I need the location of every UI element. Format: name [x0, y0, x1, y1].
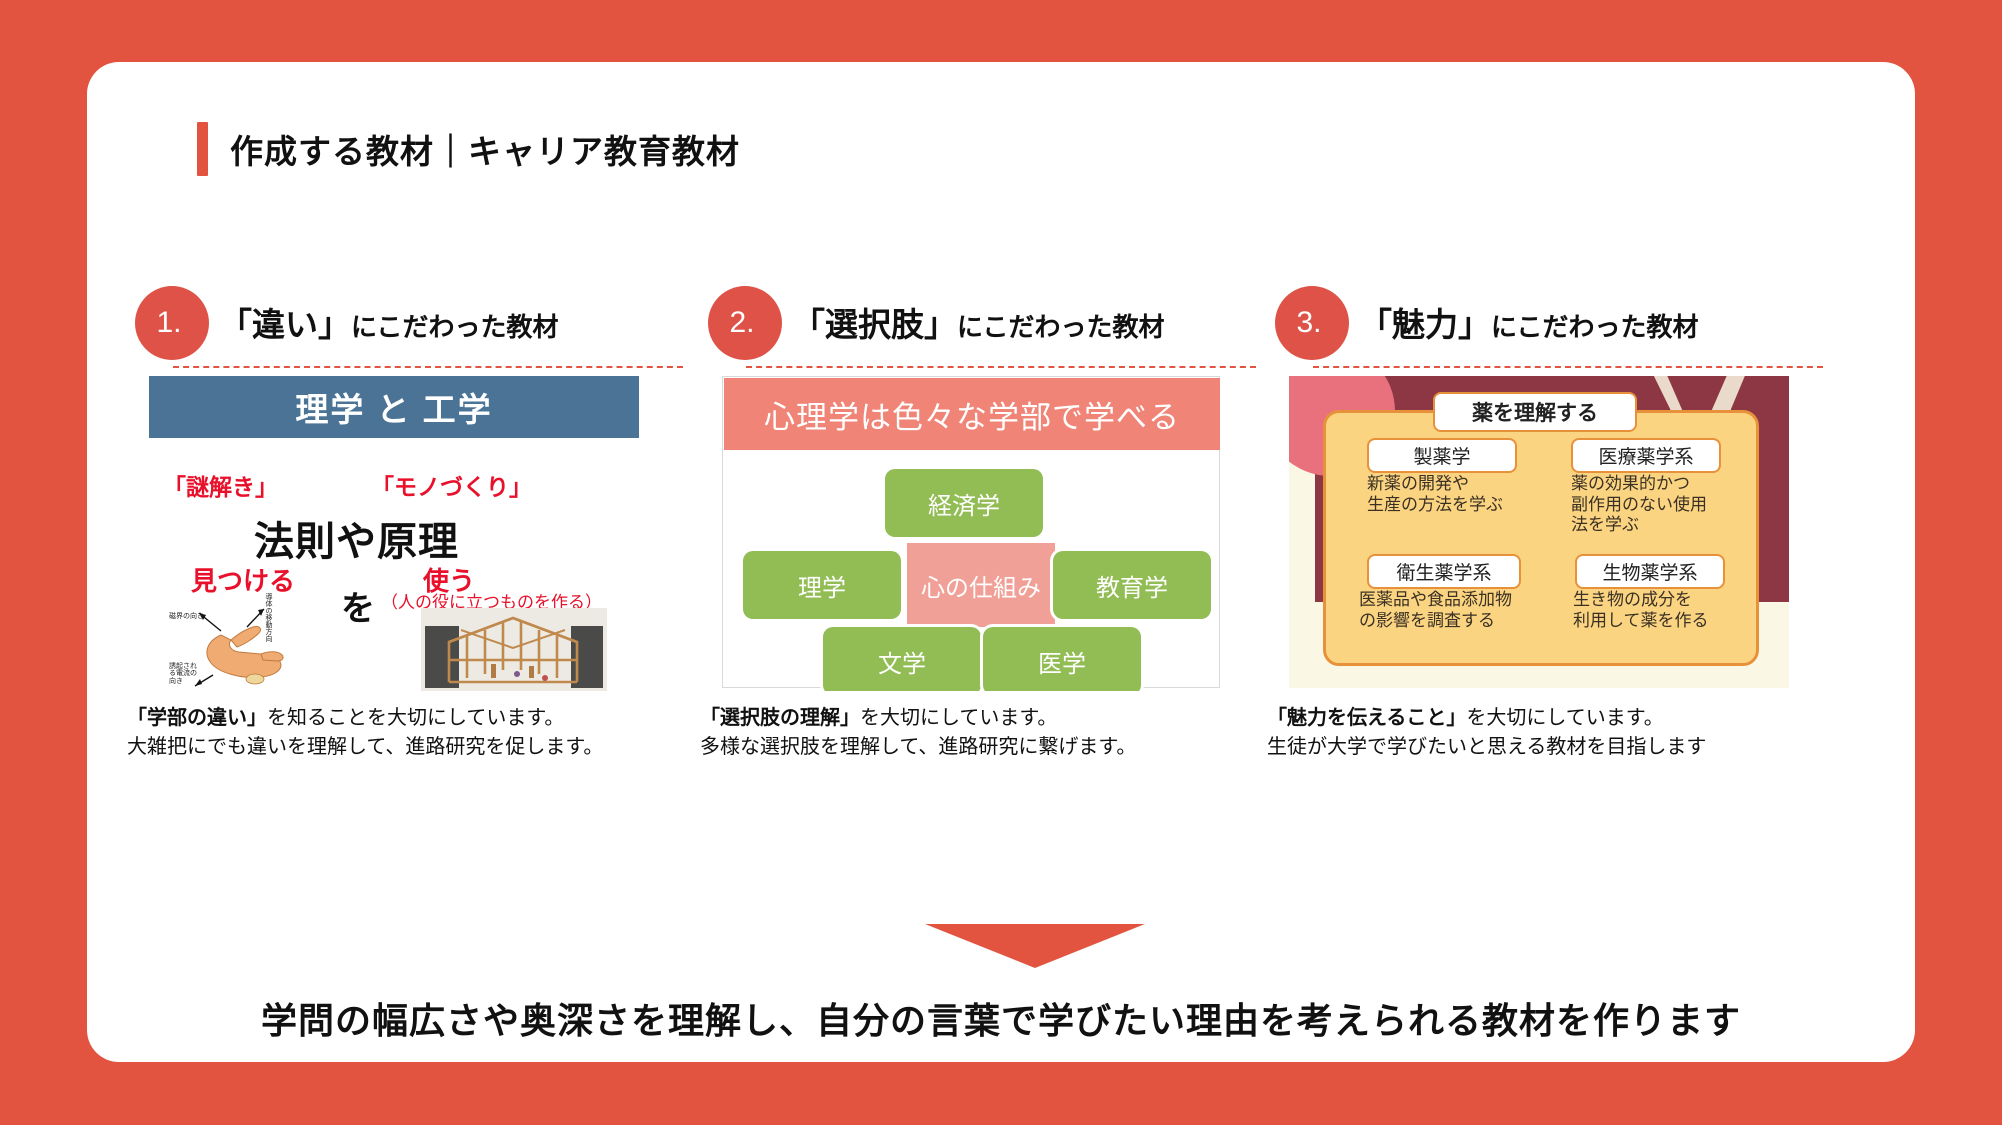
panel-3-tag-eiseiyakugaku: 衛生薬学系: [1367, 554, 1521, 589]
column-3-caption-line2: 生徒が大学で学びたいと思える教材を目指します: [1267, 733, 1867, 762]
house-frame-photo: [421, 608, 607, 691]
columns-container: 1. 「違い」にこだわった教材 理学 と 工学 「謎解き」 「モノづくり」 法則…: [87, 62, 1915, 1062]
column-2-heading-rest: にこだわった教材: [957, 312, 1164, 342]
column-1-caption-line2: 大雑把にでも違いを理解して、進路研究を促します。: [127, 733, 727, 762]
column-1-heading-quoted: 「違い」: [219, 306, 351, 343]
column-3-caption-rest: を大切にしています。: [1466, 707, 1663, 729]
column-3-heading-quoted: 「魅力」: [1359, 306, 1491, 343]
column-1-caption-rest: を知ることを大切にしています。: [267, 707, 564, 729]
panel-1-big-text: 法則や原理: [254, 509, 459, 567]
column-1-divider: [173, 366, 683, 368]
panel-3-body-iryoyakugaku: 薬の効果的かつ 副作用のない使用 法を学ぶ: [1571, 474, 1707, 536]
node-center-kokoro: 心の仕組み: [907, 543, 1055, 627]
column-2-heading: 2. 「選択肢」にこだわった教材: [700, 292, 1290, 378]
down-arrow-icon: [925, 924, 1145, 968]
column-2-caption-rest: を大切にしています。: [860, 707, 1057, 729]
footer-conclusion: 学問の幅広さや奥深さを理解し、自分の言葉で学びたい理由を考えられる教材を作ります: [87, 992, 1915, 1044]
column-3-caption: 「魅力を伝えること」を大切にしています。 生徒が大学で学びたいと思える教材を目指…: [1267, 704, 1867, 762]
column-1-number-badge: 1.: [135, 286, 209, 360]
panel-2-frame: 心理学は色々な学部で学べる 経済学 理学 心の仕組み 教育学 文学 医学: [722, 376, 1220, 688]
column-2-number-badge: 2.: [708, 286, 782, 360]
slide-card: 作成する教材｜キャリア教育教材 1. 「違い」にこだわった教材 理学 と 工学 …: [87, 62, 1915, 1062]
panel-1-header: 理学 と 工学: [149, 376, 639, 438]
column-2-divider: [746, 366, 1256, 368]
column-2-panel: 心理学は色々な学部で学べる 経済学 理学 心の仕組み 教育学 文学 医学: [722, 376, 1232, 691]
column-1-panel: 理学 と 工学 「謎解き」 「モノづくり」 法則や原理 見つける 使う を （人…: [149, 376, 659, 691]
label-motion-direction: 導体の移動方向: [265, 593, 272, 642]
column-3-heading-label: 「魅力」にこだわった教材: [1359, 298, 1698, 346]
column-2: 2. 「選択肢」にこだわった教材 心理学は色々な学部で学べる 経済学 理学 心の…: [700, 292, 1290, 378]
column-2-caption-bold: 「選択肢の理解」: [700, 707, 860, 729]
column-3-number-badge: 3.: [1275, 286, 1349, 360]
column-2-heading-label: 「選択肢」にこだわった教材: [792, 298, 1164, 346]
column-3-divider: [1313, 366, 1823, 368]
column-1: 1. 「違い」にこだわった教材 理学 と 工学 「謎解き」 「モノづくり」 法則…: [127, 292, 717, 378]
column-3-heading: 3. 「魅力」にこだわった教材: [1267, 292, 1857, 378]
node-rigaku: 理学: [743, 551, 901, 619]
panel-3-title: 薬を理解する: [1433, 392, 1637, 432]
column-2-caption-line2: 多様な選択肢を理解して、進路研究に繋げます。: [700, 733, 1300, 762]
column-1-caption-bold: 「学部の違い」: [127, 707, 267, 729]
column-3-caption-bold: 「魅力を伝えること」: [1267, 707, 1466, 729]
column-3-panel: 薬を理解する 製薬学 新薬の開発や 生産の方法を学ぶ 医療薬学系 薬の効果的かつ…: [1289, 376, 1799, 691]
panel-3-body-eiseiyakugaku: 医薬品や食品添加物 の影響を調査する: [1359, 590, 1512, 631]
panel-3-body-seibutsuyakugaku: 生き物の成分を 利用して薬を作る: [1573, 590, 1709, 631]
panel-3-tag-seibutsuyakugaku: 生物薬学系: [1575, 554, 1725, 589]
node-kyoikugaku: 教育学: [1053, 551, 1211, 619]
column-2-caption: 「選択肢の理解」を大切にしています。 多様な選択肢を理解して、進路研究に繋げます…: [700, 704, 1300, 762]
column-2-heading-quoted: 「選択肢」: [792, 306, 957, 343]
column-1-caption: 「学部の違い」を知ることを大切にしています。 大雑把にでも違いを理解して、進路研…: [127, 704, 727, 762]
flemings-hand-diagram: 磁界の向き 導体の移動方向 誘起される電流の向き: [169, 591, 379, 691]
column-1-heading: 1. 「違い」にこだわった教材: [127, 292, 717, 378]
panel-3-tag-seiyakugaku: 製薬学: [1367, 438, 1517, 473]
label-magnetic-direction: 磁界の向き: [169, 613, 204, 620]
panel-3-tag-iryoyakugaku: 医療薬学系: [1571, 438, 1721, 473]
panel-1-red-right: 「モノづくり」: [371, 468, 532, 502]
panel-3-frame: 薬を理解する 製薬学 新薬の開発や 生産の方法を学ぶ 医療薬学系 薬の効果的かつ…: [1289, 376, 1789, 688]
panel-3-body-seiyakugaku: 新薬の開発や 生産の方法を学ぶ: [1367, 474, 1503, 515]
column-1-heading-label: 「違い」にこだわった教材: [219, 298, 558, 346]
column-3: 3. 「魅力」にこだわった教材 薬を理解する 製薬学 新: [1267, 292, 1857, 378]
node-igaku: 医学: [983, 627, 1141, 691]
node-bungaku: 文学: [823, 627, 981, 691]
house-frame-illustration: [421, 608, 607, 691]
panel-2-header: 心理学は色々な学部で学べる: [724, 378, 1220, 450]
column-3-heading-rest: にこだわった教材: [1491, 312, 1698, 342]
panel-1-red-left: 「謎解き」: [163, 468, 278, 502]
node-keizaigaku: 経済学: [885, 469, 1043, 537]
column-1-heading-rest: にこだわった教材: [351, 312, 558, 342]
label-current-direction: 誘起される電流の向き: [169, 663, 203, 685]
